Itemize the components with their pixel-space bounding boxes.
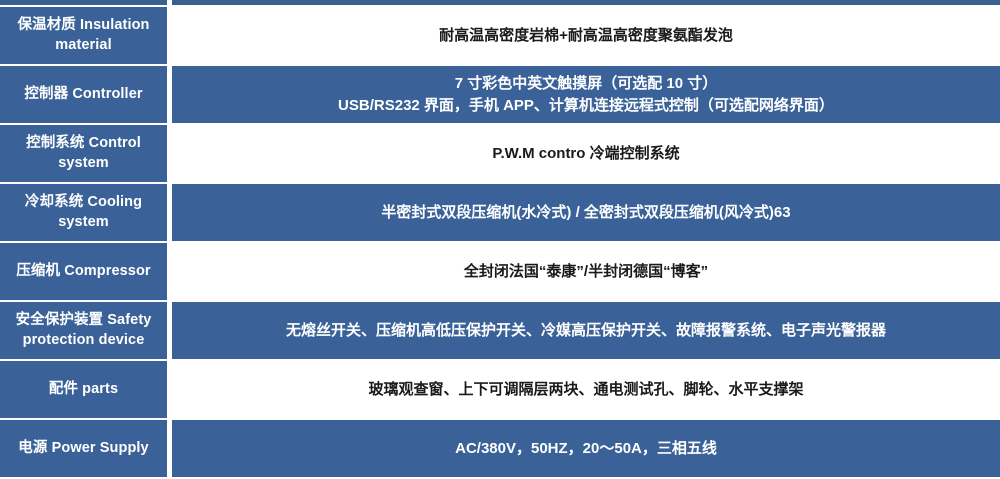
table-row: 控制系统 Control systemP.W.M contro 冷端控制系统 [0, 125, 1000, 182]
table-cell-value-text: 半密封式双段压缩机(水冷式) / 全密封式双段压缩机(风冷式)63 [381, 202, 790, 224]
table-row-partial-top [0, 0, 1000, 5]
table-row: 冷却系统 Cooling system半密封式双段压缩机(水冷式) / 全密封式… [0, 184, 1000, 241]
table-cell-value: 半密封式双段压缩机(水冷式) / 全密封式双段压缩机(风冷式)63 [172, 184, 1000, 241]
table-cell-value-text: 玻璃观查窗、上下可调隔层两块、通电测试孔、脚轮、水平支撑架 [368, 379, 803, 401]
table-cell-label: 冷却系统 Cooling system [0, 184, 167, 241]
table-cell-value: P.W.M contro 冷端控制系统 [172, 125, 1000, 182]
table-cell-value-text: 耐高温高密度岩棉+耐高温高密度聚氨酯发泡 [439, 25, 733, 47]
table-cell-value-text: P.W.M contro 冷端控制系统 [492, 143, 679, 165]
table-cell-label: 安全保护装置 Safety protection device [0, 302, 167, 359]
table-row: 安全保护装置 Safety protection device无熔丝开关、压缩机… [0, 302, 1000, 359]
table-body: 保温材质 Insulation material耐高温高密度岩棉+耐高温高密度聚… [0, 7, 1000, 479]
table-cell-value-text: 全封闭法国“泰康”/半封闭德国“博客” [464, 261, 708, 283]
table-cell-label: 压缩机 Compressor [0, 243, 167, 300]
table-cell-value: 无熔丝开关、压缩机高低压保护开关、冷媒高压保护开关、故障报警系统、电子声光警报器 [172, 302, 1000, 359]
table-cell-label-partial [0, 0, 167, 5]
table-row: 电源 Power SupplyAC/380V，50HZ，20～50A，三相五线 [0, 420, 1000, 477]
table-row: 压缩机 Compressor全封闭法国“泰康”/半封闭德国“博客” [0, 243, 1000, 300]
table-cell-label: 电源 Power Supply [0, 420, 167, 477]
table-cell-value: 玻璃观查窗、上下可调隔层两块、通电测试孔、脚轮、水平支撑架 [172, 361, 1000, 418]
table-cell-label: 配件 parts [0, 361, 167, 418]
table-cell-value: 耐高温高密度岩棉+耐高温高密度聚氨酯发泡 [172, 7, 1000, 64]
specification-table: 保温材质 Insulation material耐高温高密度岩棉+耐高温高密度聚… [0, 0, 1000, 466]
table-cell-value: AC/380V，50HZ，20～50A，三相五线 [172, 420, 1000, 477]
table-cell-label: 保温材质 Insulation material [0, 7, 167, 64]
table-cell-value: 全封闭法国“泰康”/半封闭德国“博客” [172, 243, 1000, 300]
table-cell-value: 7 寸彩色中英文触摸屏（可选配 10 寸） USB/RS232 界面，手机 AP… [172, 66, 1000, 123]
table-row: 控制器 Controller7 寸彩色中英文触摸屏（可选配 10 寸） USB/… [0, 66, 1000, 123]
table-cell-label: 控制系统 Control system [0, 125, 167, 182]
table-row: 保温材质 Insulation material耐高温高密度岩棉+耐高温高密度聚… [0, 7, 1000, 64]
table-cell-value-text: 无熔丝开关、压缩机高低压保护开关、冷媒高压保护开关、故障报警系统、电子声光警报器 [286, 320, 886, 342]
table-cell-label: 控制器 Controller [0, 66, 167, 123]
table-row: 配件 parts玻璃观查窗、上下可调隔层两块、通电测试孔、脚轮、水平支撑架 [0, 361, 1000, 418]
table-cell-value-text: 7 寸彩色中英文触摸屏（可选配 10 寸） USB/RS232 界面，手机 AP… [338, 73, 834, 117]
table-cell-value-text: AC/380V，50HZ，20～50A，三相五线 [455, 438, 717, 460]
table-cell-value-partial [172, 0, 1000, 5]
